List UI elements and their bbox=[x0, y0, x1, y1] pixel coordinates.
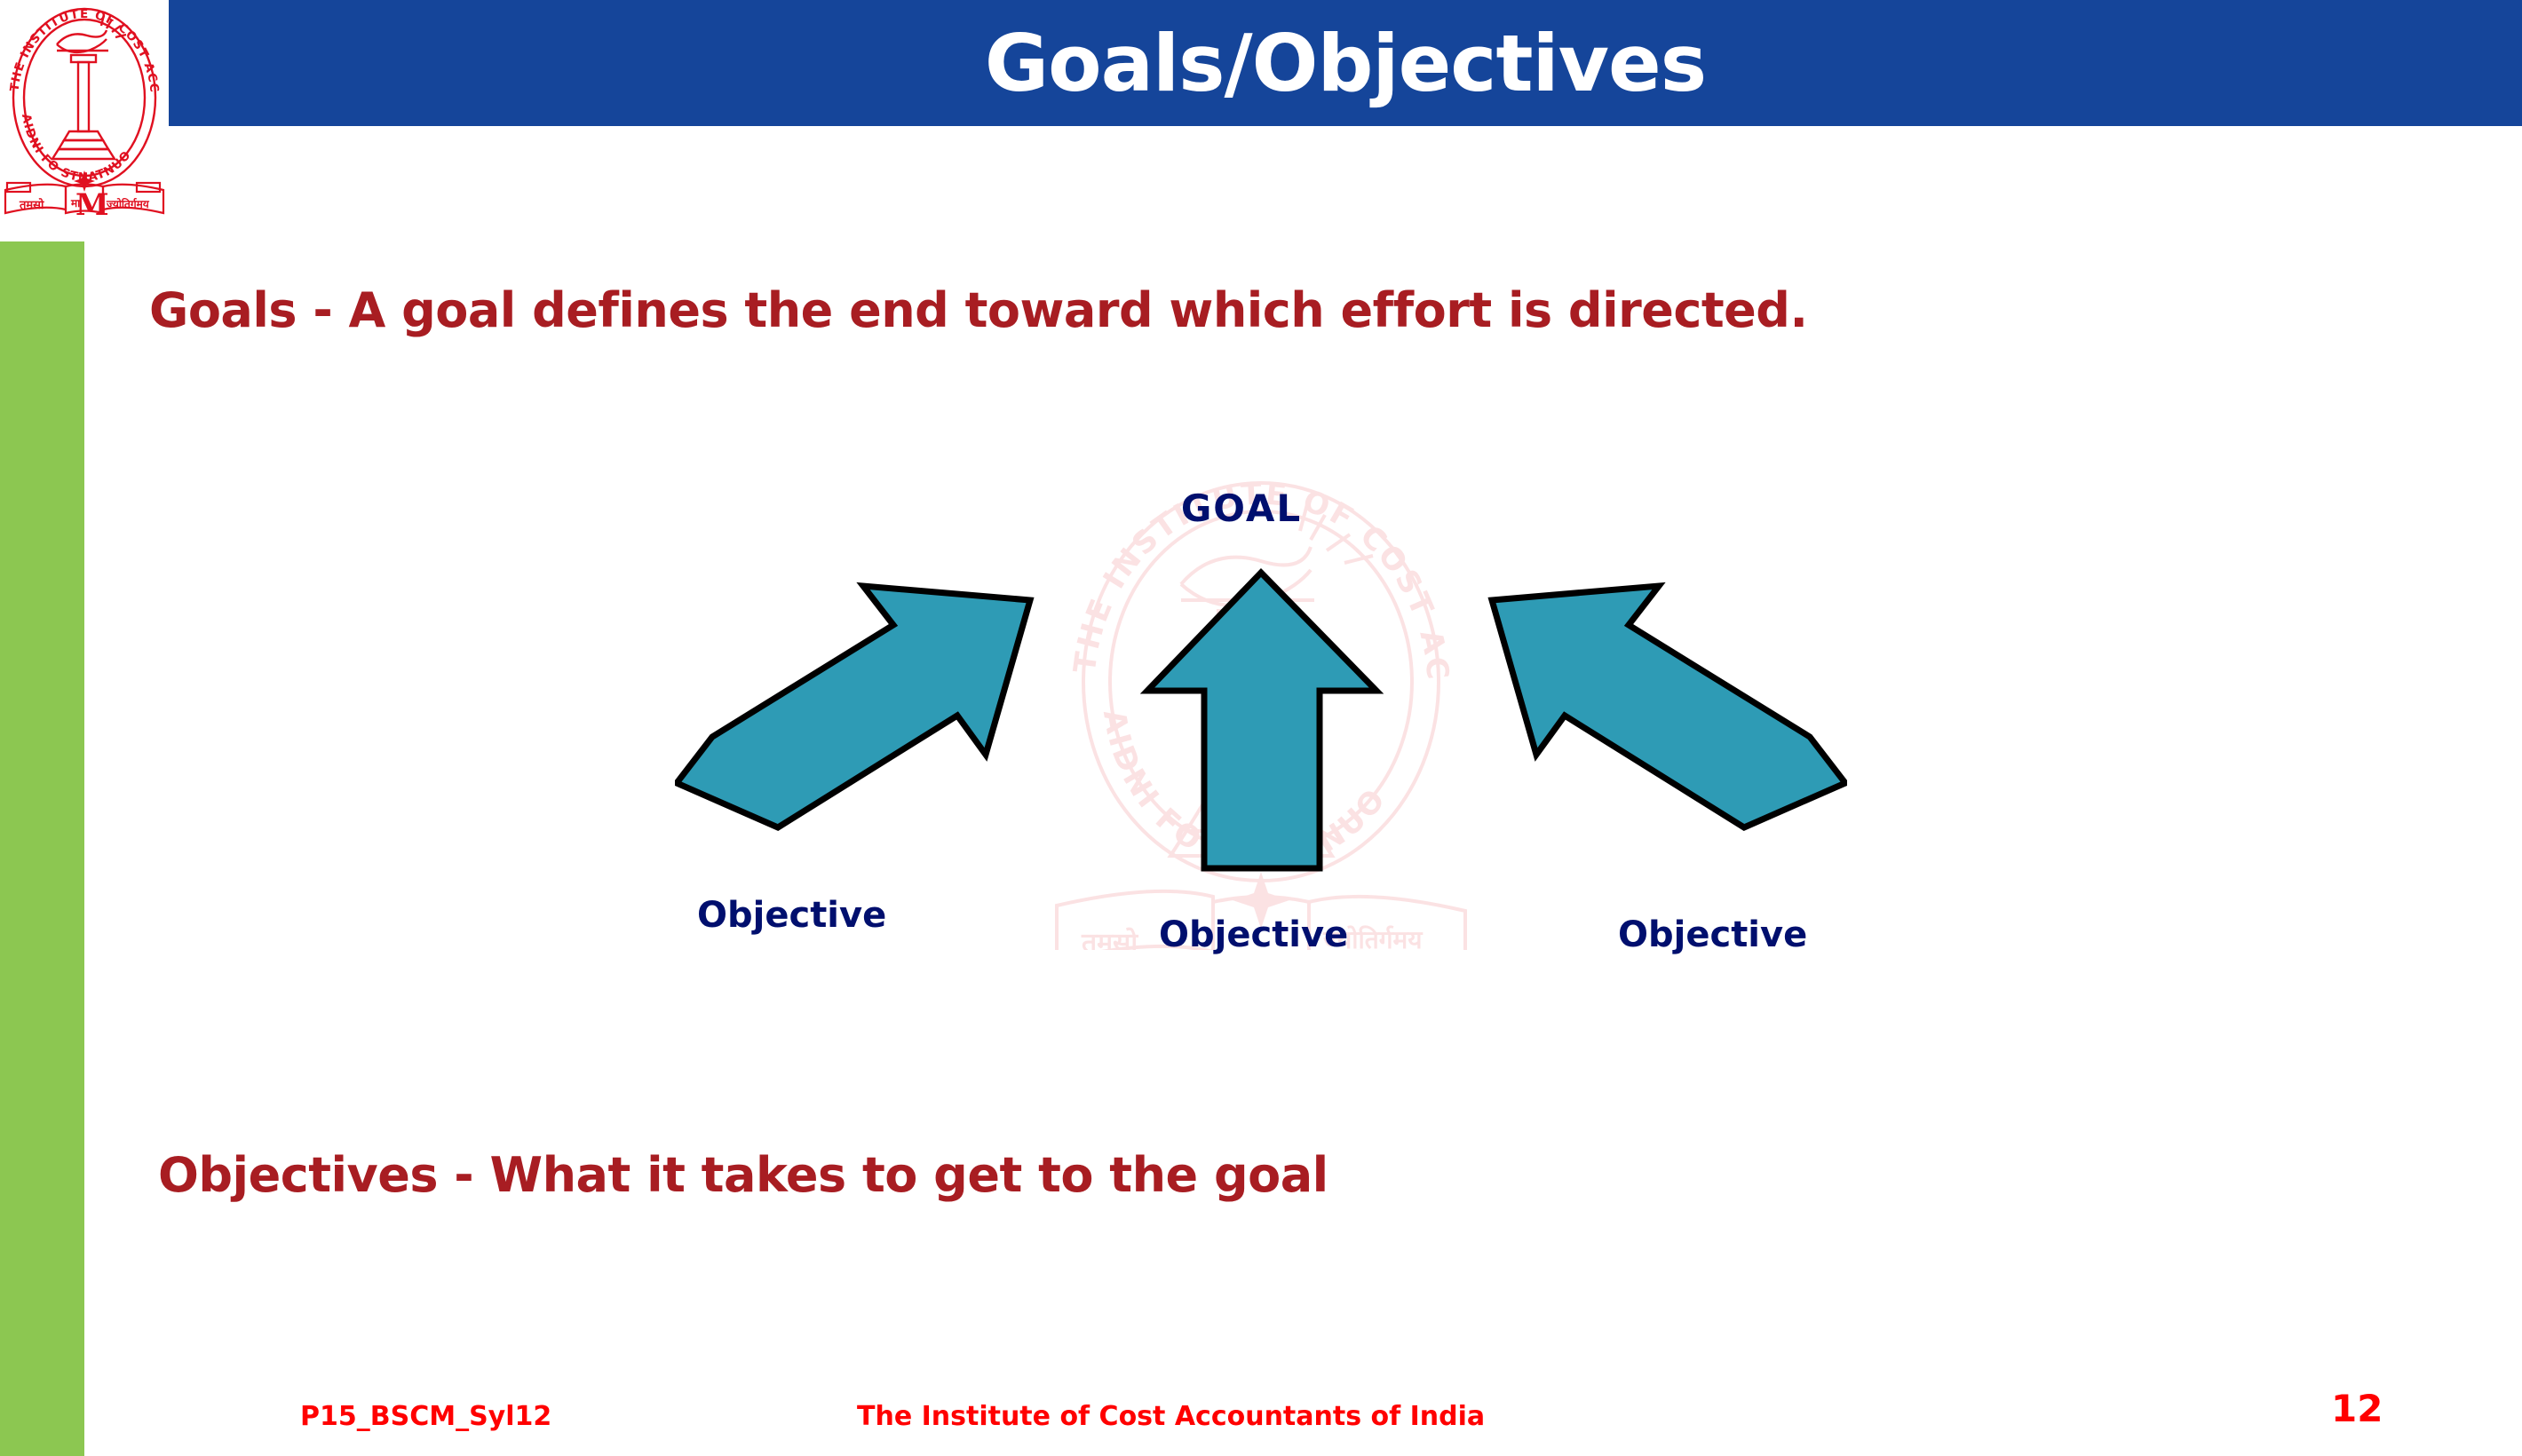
objective-label-left: Objective bbox=[697, 895, 886, 936]
objective-label-right: Objective bbox=[1618, 914, 1807, 955]
logo-banner-right: ज्योतिर्गमय bbox=[106, 198, 150, 210]
objectives-definition-text: Objectives - What it takes to get to the… bbox=[158, 1147, 1328, 1203]
arrow-objective-center bbox=[1147, 573, 1376, 868]
arrow-objective-right bbox=[1492, 586, 1845, 827]
footer-organization: The Institute of Cost Accountants of Ind… bbox=[857, 1401, 1485, 1432]
page-title: Goals/Objectives bbox=[169, 0, 2522, 126]
goal-label: GOAL bbox=[1181, 487, 1302, 530]
goals-definition-text: Goals - A goal defines the end toward wh… bbox=[149, 282, 1807, 338]
logo-monogram: M bbox=[75, 187, 109, 222]
objective-label-center: Objective bbox=[1159, 914, 1348, 955]
footer-paper-code: P15_BSCM_Syl12 bbox=[300, 1401, 551, 1432]
logo-banner-left: तमसो bbox=[19, 198, 44, 212]
footer-page-number: 12 bbox=[2331, 1387, 2383, 1430]
green-accent-sidebar bbox=[0, 241, 84, 1456]
icai-logo: THE INSTITUTE OF COST ACC AIDNI FO STNAT… bbox=[2, 2, 167, 222]
arrow-objective-left bbox=[677, 586, 1030, 827]
